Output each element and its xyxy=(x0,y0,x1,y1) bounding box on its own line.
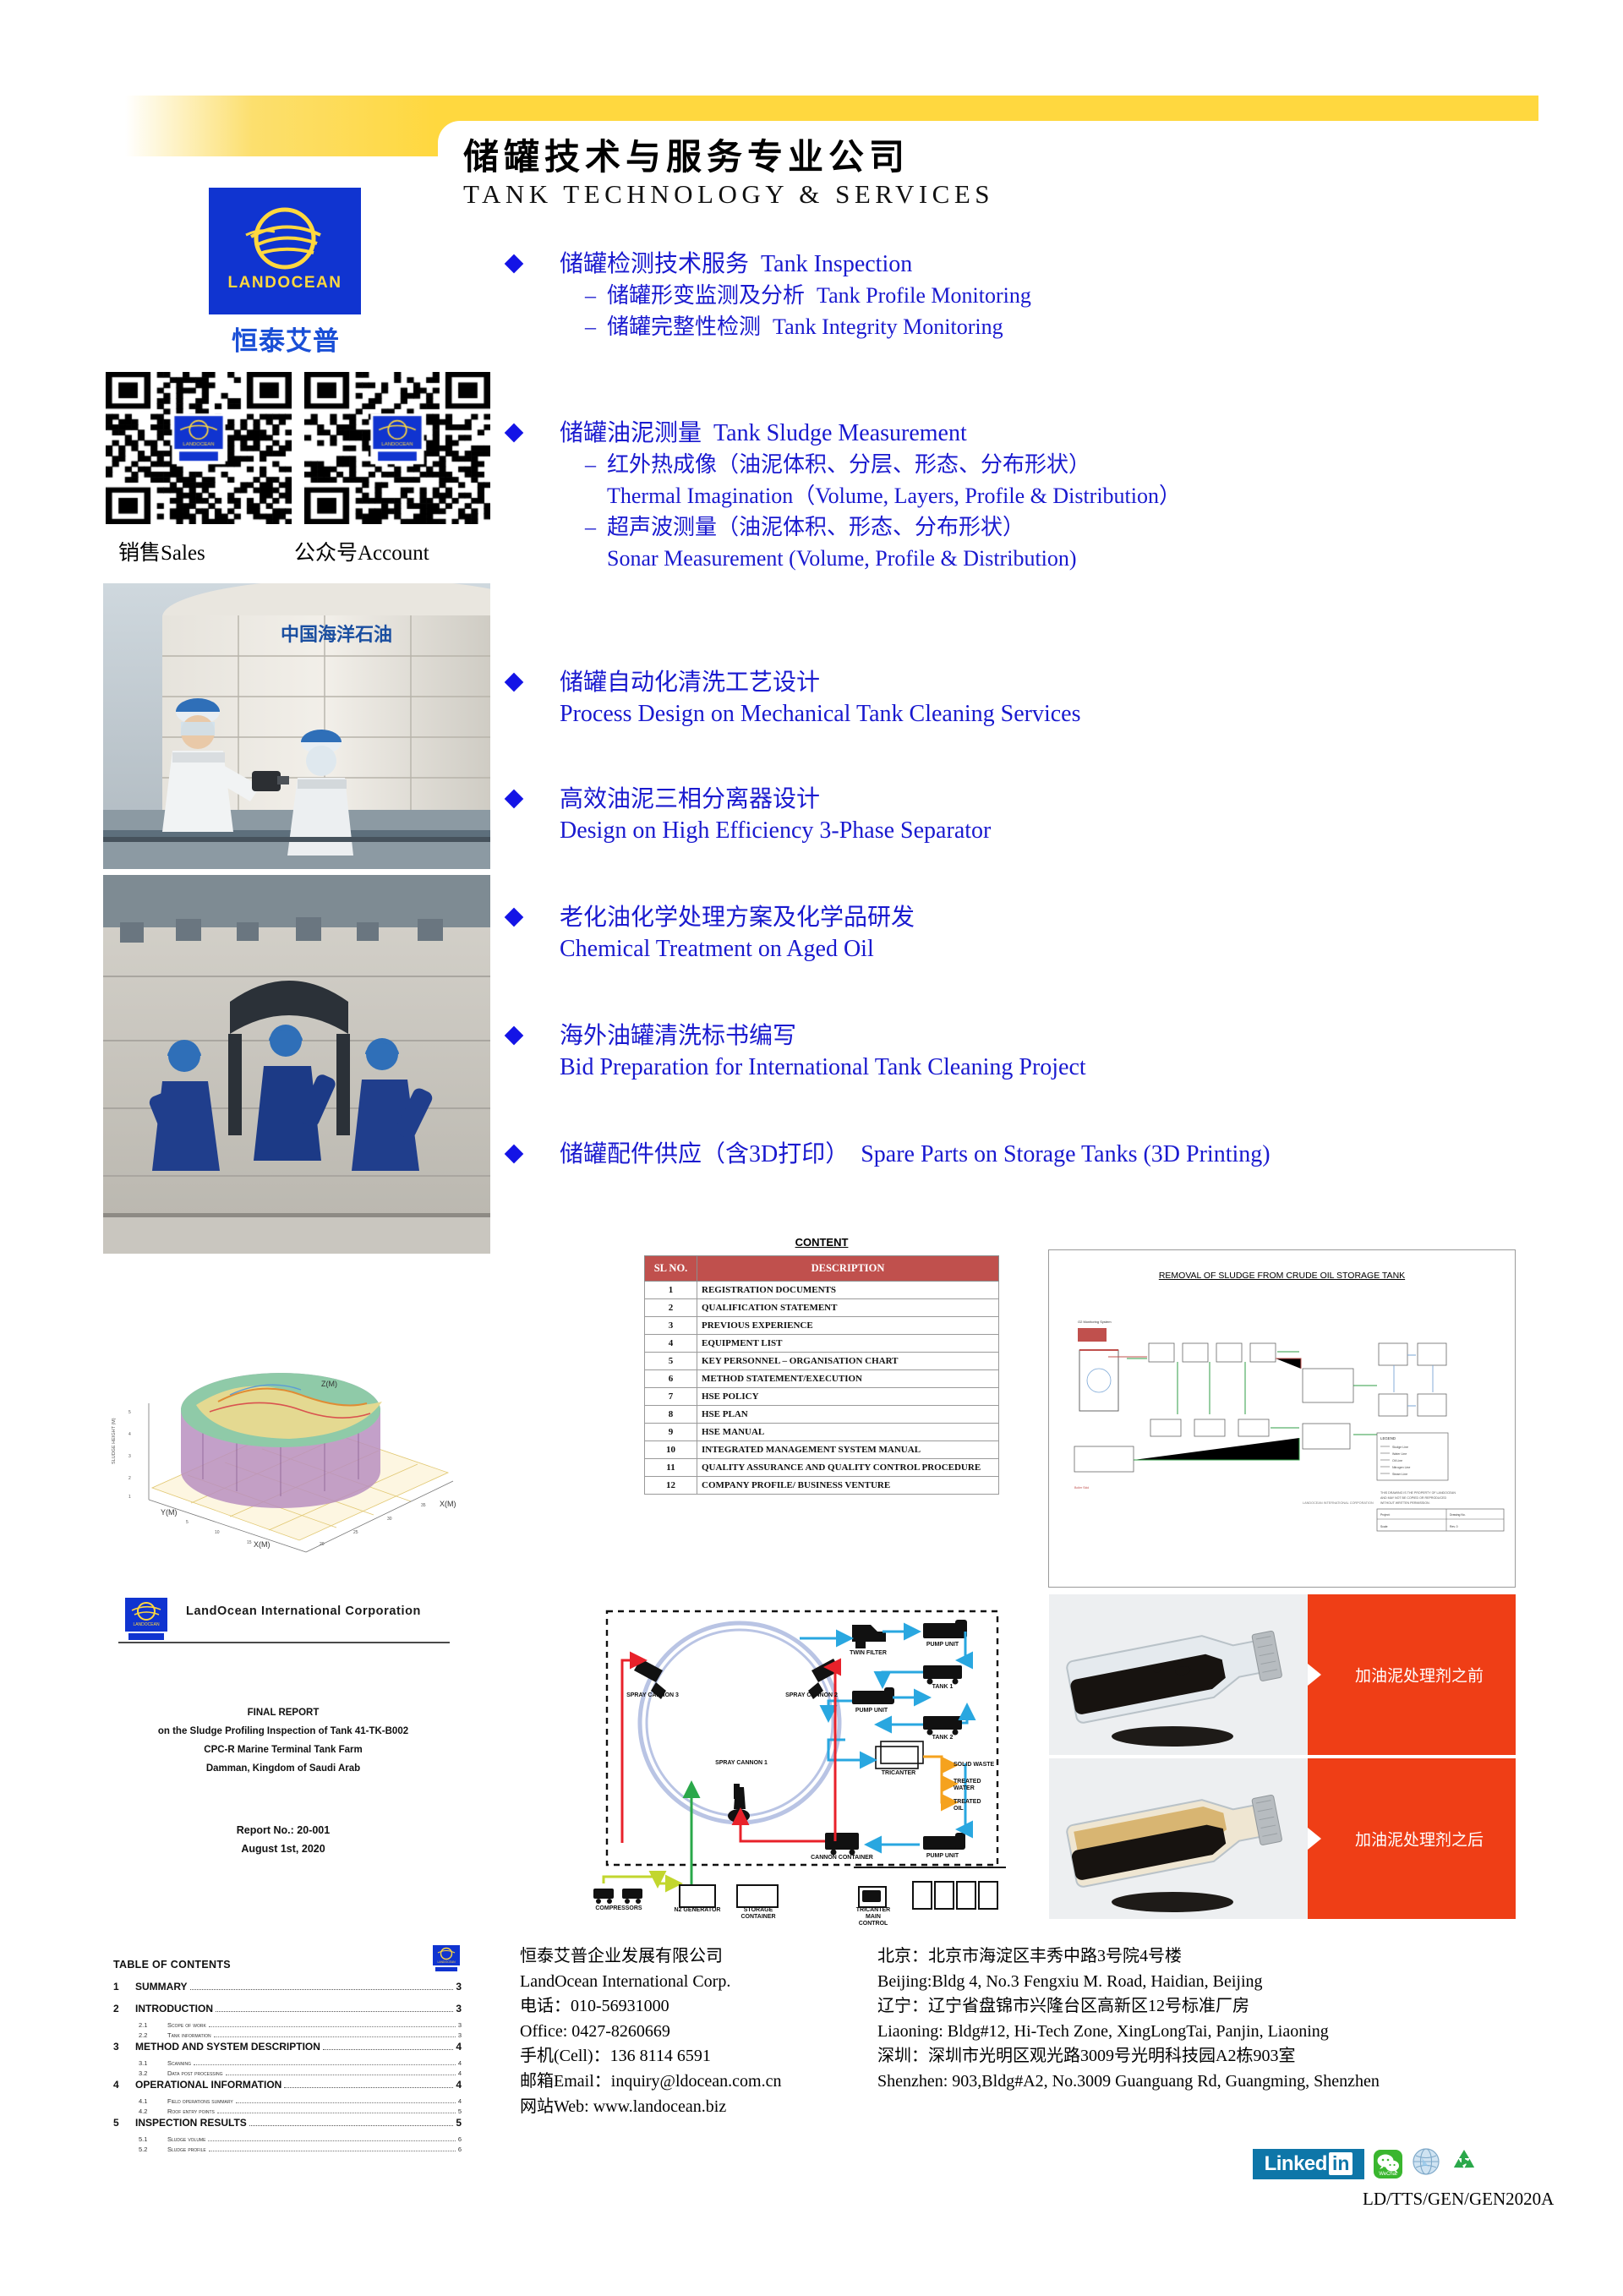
diamond-bullet-icon xyxy=(505,908,524,927)
flow-label-tank-1: TANK 1 xyxy=(923,1684,962,1691)
flow-label-treated-oil: TREATED OIL xyxy=(954,1799,994,1812)
row-description: HSE POLICY xyxy=(697,1388,999,1406)
row-description: REGISTRATION DOCUMENTS xyxy=(697,1282,999,1299)
svg-text:30: 30 xyxy=(387,1517,392,1522)
table-row: 8HSE PLAN xyxy=(645,1406,999,1424)
svg-text:Sludge Line: Sludge Line xyxy=(1392,1446,1408,1449)
service-title-en: Tank Sludge Measurement xyxy=(713,420,967,446)
toc-entry-5[interactable]: 5INSPECTION RESULTS5 xyxy=(113,2117,462,2129)
toc-entry-4[interactable]: 4OPERATIONAL INFORMATION4 xyxy=(113,2079,462,2091)
report-divider xyxy=(118,1642,450,1643)
landocean-logo: LANDOCEAN xyxy=(209,188,361,314)
svg-text:Project:: Project: xyxy=(1380,1513,1391,1517)
service-sub-en: Tank Profile Monitoring xyxy=(817,283,1031,308)
service-title-en: Spare Parts on Storage Tanks (3D Printin… xyxy=(861,1141,1270,1167)
toc-leader-dots xyxy=(194,2064,456,2065)
qr-sales-label: 销售Sales xyxy=(118,536,205,566)
dash-bullet-icon: – xyxy=(585,450,607,481)
report-company-name: LandOcean International Corporation xyxy=(186,1604,421,1618)
toc-entry-4-2[interactable]: 4.2Roof entry points5 xyxy=(139,2107,462,2115)
flow-label-n2-generator: N2 GENERATOR xyxy=(669,1907,725,1914)
oil-panel-after: 加油泥处理剂之后 xyxy=(1049,1758,1516,1919)
service-title-cn: 储罐检测技术服务 xyxy=(560,251,749,277)
table-row: 2QUALIFICATION STATEMENT xyxy=(645,1299,999,1317)
svg-text:5: 5 xyxy=(128,1410,131,1415)
report-date: August 1st, 2020 xyxy=(101,1843,465,1855)
toc-leader-dots xyxy=(214,2036,456,2037)
wechat-label: WeChat xyxy=(1374,2172,1402,2177)
toc-entry-title: METHOD AND SYSTEM DESCRIPTION xyxy=(135,2041,320,2053)
qr-canvas xyxy=(304,372,490,524)
content-table-header-row: SL NO. DESCRIPTION xyxy=(645,1256,999,1282)
svg-text:Steam Line: Steam Line xyxy=(1392,1473,1407,1476)
toc-entry-page: 3 xyxy=(456,1981,462,1993)
recycle-icon xyxy=(1450,2147,1478,2180)
toc-leader-dots xyxy=(284,2087,453,2088)
toc-entry-page: 3 xyxy=(458,2021,462,2029)
service-item-7[interactable]: 储罐配件供应（含3D打印）Spare Parts on Storage Tank… xyxy=(507,1140,1271,1171)
diamond-bullet-icon xyxy=(505,1145,524,1164)
flow-label-tricanter: TRICANTER xyxy=(872,1770,925,1777)
svg-text:3: 3 xyxy=(128,1454,131,1459)
diamond-bullet-icon xyxy=(505,254,524,274)
row-number: 10 xyxy=(645,1441,697,1459)
service-bullet-row: 海外油罐清洗标书编写Bid Preparation for Internatio… xyxy=(507,1021,1086,1084)
wechat-icon[interactable]: WeChat xyxy=(1374,2150,1402,2178)
flow-label-solid-waste: SOLID WASTE xyxy=(954,1762,1006,1768)
linkedin-label-1: Linked xyxy=(1265,2152,1327,2176)
svg-text:O2 Monitoring System: O2 Monitoring System xyxy=(1078,1320,1112,1324)
toc-entry-title: SUMMARY xyxy=(135,1981,188,1993)
footer-social-badges: Linked in WeChat xyxy=(1253,2147,1478,2180)
qr-code-sales xyxy=(106,372,292,524)
toc-entry-2-1[interactable]: 2.1Scope of work3 xyxy=(139,2021,462,2029)
row-number: 6 xyxy=(645,1370,697,1388)
toc-logo-icon: LANDOCEAN xyxy=(431,1945,462,1974)
service-title-en: Tank Inspection xyxy=(761,251,912,277)
svg-text:Rev. 0: Rev. 0 xyxy=(1450,1525,1458,1528)
table-row: 1REGISTRATION DOCUMENTS xyxy=(645,1282,999,1299)
toc-entry-title: Sludge volume xyxy=(167,2135,205,2143)
toc-leader-dots xyxy=(208,2140,455,2141)
toc-entry-3-2[interactable]: 3.2Data post processing4 xyxy=(139,2069,462,2077)
content-table: SL NO. DESCRIPTION 1REGISTRATION DOCUMEN… xyxy=(644,1255,999,1495)
address-beijing-en: Beijing:Bldg 4, No.3 Fengxiu M. Road, Ha… xyxy=(877,1970,1380,1995)
diamond-bullet-icon xyxy=(505,1026,524,1046)
service-bullet-row: 储罐检测技术服务Tank Inspection xyxy=(507,249,1031,281)
svg-text:中国海洋石油: 中国海洋石油 xyxy=(281,624,392,645)
table-row: 4EQUIPMENT LIST xyxy=(645,1335,999,1353)
flow-label-cannon-container: CANNON CONTAINER xyxy=(803,1855,881,1861)
svg-text:SLUDGE HEIGHT (M): SLUDGE HEIGHT (M) xyxy=(112,1418,117,1464)
table-row: 5KEY PERSONNEL – ORGANISATION CHART xyxy=(645,1353,999,1370)
toc-entry-number: 1 xyxy=(113,1981,135,1993)
toc-entry-page: 4 xyxy=(458,2097,462,2105)
contact-web[interactable]: 网站Web: www.landocean.biz xyxy=(520,2095,781,2120)
toc-entry-number: 5.2 xyxy=(139,2146,167,2153)
toc-leader-dots xyxy=(226,2075,456,2075)
toc-entry-page: 5 xyxy=(456,2117,462,2129)
svg-text:LANDOCEAN INTERNATIONAL CORPOR: LANDOCEAN INTERNATIONAL CORPORATION xyxy=(1303,1501,1374,1505)
toc-entry-number: 4.2 xyxy=(139,2107,167,2115)
content-table-title: CONTENT xyxy=(644,1236,999,1249)
report-number: Report No.: 20-001 xyxy=(101,1824,465,1836)
toc-entry-3[interactable]: 3METHOD AND SYSTEM DESCRIPTION4 xyxy=(113,2041,462,2053)
svg-text:Boiler Skid: Boiler Skid xyxy=(1074,1486,1089,1490)
row-description: EQUIPMENT LIST xyxy=(697,1335,999,1353)
service-title-cn: 储罐油泥测量 xyxy=(560,420,702,446)
contact-email[interactable]: 邮箱Email：inquiry@ldocean.com.cn xyxy=(520,2069,781,2095)
toc-entry-page: 3 xyxy=(456,2003,462,2014)
service-title-en: Process Design on Mechanical Tank Cleani… xyxy=(560,699,1080,730)
toc-leader-dots xyxy=(236,2102,456,2103)
toc-leader-dots xyxy=(209,2151,456,2151)
flow-label-spray-cannon-2: SPRAY CANNON 2 xyxy=(784,1692,839,1699)
toc-entry-2-2[interactable]: 2.2Tank information3 xyxy=(139,2031,462,2039)
col-description: DESCRIPTION xyxy=(697,1256,999,1282)
svg-text:15: 15 xyxy=(247,1540,252,1545)
toc-leader-dots xyxy=(216,2011,453,2012)
svg-text:LANDOCEAN: LANDOCEAN xyxy=(133,1622,160,1627)
svg-text:Scale: Scale xyxy=(1380,1525,1388,1528)
toc-document: LANDOCEAN TABLE OF CONTENTS 1SUMMARY32IN… xyxy=(101,1940,473,2122)
flow-label-tank-2: TANK 2 xyxy=(923,1735,962,1741)
row-number: 3 xyxy=(645,1317,697,1335)
toc-entry-number: 5 xyxy=(113,2117,135,2129)
toc-entry-number: 3.1 xyxy=(139,2059,167,2067)
service-bullet-row: 储罐自动化清洗工艺设计Process Design on Mechanical … xyxy=(507,668,1080,730)
contact-line-1: LandOcean International Corp. xyxy=(520,1970,781,1995)
svg-text:Y(M): Y(M) xyxy=(161,1508,178,1517)
flow-label-spray-cannon-3: SPRAY CANNON 3 xyxy=(626,1692,680,1699)
addresses-block: 北京：北京市海淀区丰秀中路3号院4号楼 Beijing:Bldg 4, No.3… xyxy=(877,1944,1380,2095)
photo-tank-inspection: 中国海洋石油 xyxy=(103,583,490,869)
service-title-en: Bid Preparation for International Tank C… xyxy=(560,1052,1086,1084)
row-number: 7 xyxy=(645,1388,697,1406)
row-description: HSE MANUAL xyxy=(697,1424,999,1441)
svg-text:Drawing No.: Drawing No. xyxy=(1450,1513,1466,1517)
toc-leader-dots xyxy=(217,2113,456,2113)
table-row: 11QUALITY ASSURANCE AND QUALITY CONTROL … xyxy=(645,1459,999,1477)
flow-label-pump-unit-1: PUMP UNIT xyxy=(918,1642,967,1648)
row-description: QUALITY ASSURANCE AND QUALITY CONTROL PR… xyxy=(697,1459,999,1477)
service-title-en: Chemical Treatment on Aged Oil xyxy=(560,934,915,965)
toc-entry-title: OPERATIONAL INFORMATION xyxy=(135,2079,281,2091)
tank-cleaning-flow-diagram: SPRAY CANNON 3 SPRAY CANNON 2 SPRAY CANN… xyxy=(592,1598,1014,1911)
oil-before-label: 加油泥处理剂之前 xyxy=(1355,1664,1484,1686)
toc-entry-number: 4.1 xyxy=(139,2097,167,2105)
contact-phone: 电话：010-56931000 xyxy=(520,1994,781,2020)
svg-text:10: 10 xyxy=(215,1530,220,1535)
service-sub-1: –储罐形变监测及分析Tank Profile Monitoring xyxy=(585,281,1031,312)
col-sl-no: SL NO. xyxy=(645,1256,697,1282)
toc-entry-3-1[interactable]: 3.1Scanning4 xyxy=(139,2059,462,2067)
svg-text:Water Line: Water Line xyxy=(1392,1452,1407,1456)
toc-entry-title: INTRODUCTION xyxy=(135,2003,213,2014)
row-number: 2 xyxy=(645,1299,697,1317)
toc-leader-dots xyxy=(190,1989,454,1990)
diamond-bullet-icon xyxy=(505,424,524,443)
svg-text:Nitrogen Line: Nitrogen Line xyxy=(1392,1466,1410,1469)
pid-diagram-panel: REMOVAL OF SLUDGE FROM CRUDE OIL STORAGE… xyxy=(1048,1249,1516,1588)
svg-text:35: 35 xyxy=(421,1503,426,1508)
toc-entry-2[interactable]: 2INTRODUCTION3 xyxy=(113,2003,462,2014)
service-bullet-row: 储罐油泥测量Tank Sludge Measurement xyxy=(507,418,1181,450)
toc-entry-page: 4 xyxy=(456,2041,462,2053)
row-number: 1 xyxy=(645,1282,697,1299)
row-description: INTEGRATED MANAGEMENT SYSTEM MANUAL xyxy=(697,1441,999,1459)
report-logo-icon: LANDOCEAN xyxy=(120,1598,172,1642)
toc-entry-title: Scope of work xyxy=(167,2021,206,2029)
service-title-en: Design on High Efficiency 3-Phase Separa… xyxy=(560,816,991,847)
chart-3d-sludge-profile: Z(M) Y(M) X(M) X(M) 54 321 51015 202530 … xyxy=(103,1261,492,1555)
toc-entry-5-1[interactable]: 5.1Sludge volume6 xyxy=(139,2135,462,2143)
row-number: 9 xyxy=(645,1424,697,1441)
service-item-5[interactable]: 老化油化学处理方案及化学品研发Chemical Treatment on Age… xyxy=(507,903,915,965)
diamond-bullet-icon xyxy=(505,673,524,692)
toc-entry-title: Roof entry points xyxy=(167,2107,215,2115)
toc-entry-4-1[interactable]: 4.1Field operations summary4 xyxy=(139,2097,462,2105)
service-sub-2-en: Sonar Measurement (Volume, Profile & Dis… xyxy=(607,544,1181,575)
flow-label-spray-cannon-1: SPRAY CANNON 1 xyxy=(715,1760,768,1767)
toc-entry-number: 3 xyxy=(113,2041,135,2053)
service-sub-en: Sonar Measurement (Volume, Profile & Dis… xyxy=(607,546,1077,571)
toc-entry-5-2[interactable]: 5.2Sludge profile6 xyxy=(139,2146,462,2153)
toc-entry-page: 6 xyxy=(458,2135,462,2143)
service-title-cn: 储罐自动化清洗工艺设计 xyxy=(560,670,820,696)
svg-text:THIS DRAWING IS THE PROPERTY O: THIS DRAWING IS THE PROPERTY OF LANDOCEA… xyxy=(1380,1491,1456,1495)
flow-label-treated-water: TREATED WATER xyxy=(954,1779,994,1792)
table-row: 12COMPANY PROFILE/ BUSINESS VENTURE xyxy=(645,1477,999,1495)
service-title-cn: 老化油化学处理方案及化学品研发 xyxy=(560,905,915,931)
service-sub-cn: 储罐完整性检测 xyxy=(607,314,761,339)
service-item-3[interactable]: 储罐自动化清洗工艺设计Process Design on Mechanical … xyxy=(507,668,1080,730)
toc-entry-number: 2 xyxy=(113,2003,135,2014)
toc-heading: TABLE OF CONTENTS xyxy=(113,1959,231,1971)
flow-label-pump-unit-3: PUMP UNIT xyxy=(918,1853,967,1860)
flow-label-twin-filter: TWIN FILTER xyxy=(842,1650,894,1657)
dash-bullet-icon: – xyxy=(585,281,607,312)
flow-label-pump-unit-2: PUMP UNIT xyxy=(847,1708,896,1714)
toc-entry-title: Data post processing xyxy=(167,2069,223,2077)
row-description: METHOD STATEMENT/EXECUTION xyxy=(697,1370,999,1388)
service-sub-2: –储罐完整性检测Tank Integrity Monitoring xyxy=(585,312,1031,343)
row-number: 12 xyxy=(645,1477,697,1495)
toc-entry-1[interactable]: 1SUMMARY3 xyxy=(113,1981,462,1993)
service-item-1[interactable]: 储罐检测技术服务Tank Inspection–储罐形变监测及分析Tank Pr… xyxy=(507,249,1031,343)
toc-leader-dots xyxy=(323,2049,453,2050)
toc-entry-page: 5 xyxy=(458,2107,462,2115)
table-row: 9HSE MANUAL xyxy=(645,1424,999,1441)
toc-entry-page: 6 xyxy=(458,2146,462,2153)
svg-text:Z(M): Z(M) xyxy=(321,1380,337,1388)
toc-entry-title: Scanning xyxy=(167,2059,191,2067)
dash-bullet-icon: – xyxy=(585,312,607,343)
toc-entry-page: 4 xyxy=(456,2079,462,2091)
service-item-4[interactable]: 高效油泥三相分离器设计Design on High Efficiency 3-P… xyxy=(507,784,991,847)
toc-entry-number: 2.2 xyxy=(139,2031,167,2039)
toc-entry-title: Sludge profile xyxy=(167,2146,206,2153)
service-title-cn: 海外油罐清洗标书编写 xyxy=(560,1023,796,1049)
toc-entry-page: 4 xyxy=(458,2069,462,2077)
row-description: KEY PERSONNEL – ORGANISATION CHART xyxy=(697,1353,999,1370)
oil-panel-before: 加油泥处理剂之前 xyxy=(1049,1594,1516,1755)
svg-text:4: 4 xyxy=(128,1432,131,1437)
toc-entry-number: 2.1 xyxy=(139,2021,167,2029)
contact-block: 恒泰艾普企业发展有限公司 LandOcean International Cor… xyxy=(520,1944,781,2119)
row-number: 5 xyxy=(645,1353,697,1370)
report-line-1: on the Sludge Profiling Inspection of Ta… xyxy=(101,1726,465,1736)
service-bullet-row: 老化油化学处理方案及化学品研发Chemical Treatment on Age… xyxy=(507,903,915,965)
svg-text:X(M): X(M) xyxy=(440,1500,456,1508)
svg-text:25: 25 xyxy=(353,1530,358,1535)
toc-entry-page: 4 xyxy=(458,2059,462,2067)
toc-entry-title: Field operations summary xyxy=(167,2097,233,2105)
row-description: COMPANY PROFILE/ BUSINESS VENTURE xyxy=(697,1477,999,1495)
service-sub-cn: 储罐形变监测及分析 xyxy=(607,283,805,308)
toc-entry-number: 3.2 xyxy=(139,2069,167,2077)
row-description: PREVIOUS EXPERIENCE xyxy=(697,1317,999,1335)
service-sub-en: Tank Integrity Monitoring xyxy=(773,314,1003,339)
poster-page: 储罐技术与服务专业公司 TANK TECHNOLOGY & SERVICES L… xyxy=(0,0,1623,2296)
contact-office: Office: 0427-8260669 xyxy=(520,2020,781,2045)
svg-text:AND MAY NOT BE COPIED OR REPRO: AND MAY NOT BE COPIED OR REPRODUCED xyxy=(1380,1496,1446,1500)
toc-entry-title: INSPECTION RESULTS xyxy=(135,2117,247,2129)
globe-icon[interactable] xyxy=(1412,2147,1440,2180)
toc-entry-page: 3 xyxy=(458,2031,462,2039)
address-shenzhen-cn: 深圳：深圳市光明区观光路3009号光明科技园A2栋903室 xyxy=(877,2044,1380,2069)
row-number: 8 xyxy=(645,1406,697,1424)
service-sub-cn: 超声波测量（油泥体积、形态、分布形状） xyxy=(607,515,1025,539)
service-title-cn: 储罐配件供应（含3D打印） xyxy=(560,1141,849,1167)
address-liaoning-en: Liaoning: Bldg#12, Hi-Tech Zone, XingLon… xyxy=(877,2020,1380,2045)
report-line-2: CPC-R Marine Terminal Tank Farm xyxy=(101,1745,465,1755)
service-item-6[interactable]: 海外油罐清洗标书编写Bid Preparation for Internatio… xyxy=(507,1021,1086,1084)
toc-leader-dots xyxy=(209,2026,456,2027)
toc-entry-number: 4 xyxy=(113,2079,135,2091)
qr-account-label: 公众号Account xyxy=(294,536,429,566)
table-row: 7HSE POLICY xyxy=(645,1388,999,1406)
service-sub-1-en: Thermal Imagination（Volume, Layers, Prof… xyxy=(607,481,1181,512)
flow-label-storage-container: STORAGE CONTAINER xyxy=(734,1907,783,1921)
svg-text:X(M): X(M) xyxy=(254,1540,270,1549)
document-code: LD/TTS/GEN/GEN2020A xyxy=(1363,2189,1554,2210)
table-row: 10INTEGRATED MANAGEMENT SYSTEM MANUAL xyxy=(645,1441,999,1459)
service-sub-cn: 红外热成像（油泥体积、分层、形态、分布形状） xyxy=(607,452,1090,477)
page-title-en: TANK TECHNOLOGY & SERVICES xyxy=(463,179,994,210)
content-table-block: CONTENT SL NO. DESCRIPTION 1REGISTRATION… xyxy=(644,1236,999,1495)
toc-leader-dots xyxy=(249,2125,454,2126)
service-bullet-row: 储罐配件供应（含3D打印）Spare Parts on Storage Tank… xyxy=(507,1140,1271,1171)
row-description: QUALIFICATION STATEMENT xyxy=(697,1299,999,1317)
svg-text:LANDOCEAN: LANDOCEAN xyxy=(228,274,342,292)
linkedin-icon[interactable]: Linked in xyxy=(1253,2149,1364,2179)
row-number: 11 xyxy=(645,1459,697,1477)
row-description: HSE PLAN xyxy=(697,1406,999,1424)
dash-bullet-icon: – xyxy=(585,512,607,544)
address-beijing-cn: 北京：北京市海淀区丰秀中路3号院4号楼 xyxy=(877,1944,1380,1970)
svg-text:WITHOUT WRITTEN PERMISSION.: WITHOUT WRITTEN PERMISSION. xyxy=(1380,1501,1430,1505)
service-item-2[interactable]: 储罐油泥测量Tank Sludge Measurement–红外热成像（油泥体积… xyxy=(507,418,1181,575)
page-title-cn: 储罐技术与服务专业公司 xyxy=(463,128,910,180)
landocean-globe-icon: LANDOCEAN xyxy=(209,188,361,314)
oil-after-label: 加油泥处理剂之后 xyxy=(1355,1828,1484,1850)
report-line-3: Damman, Kingdom of Saudi Arab xyxy=(101,1763,465,1774)
logo-company-cn: 恒泰艾普 xyxy=(203,320,369,358)
table-row: 6METHOD STATEMENT/EXECUTION xyxy=(645,1370,999,1388)
svg-text:LEGEND: LEGEND xyxy=(1380,1436,1396,1440)
svg-text:5: 5 xyxy=(186,1520,189,1525)
service-sub-2: –超声波测量（油泥体积、形态、分布形状） xyxy=(585,512,1181,544)
svg-text:2: 2 xyxy=(128,1476,131,1481)
qr-code-account xyxy=(304,372,490,524)
flow-label-compressors: COMPRESSORS xyxy=(592,1905,646,1912)
service-bullet-row: 高效油泥三相分离器设计Design on High Efficiency 3-P… xyxy=(507,784,991,847)
diamond-bullet-icon xyxy=(505,790,524,809)
service-sub-1: –红外热成像（油泥体积、分层、形态、分布形状） xyxy=(585,450,1181,481)
contact-line-0: 恒泰艾普企业发展有限公司 xyxy=(520,1944,781,1970)
row-number: 4 xyxy=(645,1335,697,1353)
flow-label-tricanter-main-control: TRICANTER MAIN CONTROL xyxy=(849,1907,898,1927)
photo-roof-crew xyxy=(103,875,490,1254)
service-title-cn: 高效油泥三相分离器设计 xyxy=(560,786,820,812)
svg-text:20: 20 xyxy=(320,1542,325,1547)
linkedin-label-2: in xyxy=(1329,2152,1352,2174)
address-shenzhen-en: Shenzhen: 903,Bldg#A2, No.3009 Guanguang… xyxy=(877,2069,1380,2095)
service-sub-en: Thermal Imagination（Volume, Layers, Prof… xyxy=(607,484,1181,508)
svg-text:Oil Line: Oil Line xyxy=(1392,1459,1402,1462)
address-liaoning-cn: 辽宁：辽宁省盘锦市兴隆台区高新区12号标准厂房 xyxy=(877,1994,1380,2020)
svg-text:LANDOCEAN: LANDOCEAN xyxy=(437,1960,456,1964)
qr-canvas xyxy=(106,372,292,524)
table-row: 3PREVIOUS EXPERIENCE xyxy=(645,1317,999,1335)
toc-entry-number: 5.1 xyxy=(139,2135,167,2143)
report-cover-document: LANDOCEAN LandOcean International Corpor… xyxy=(101,1589,465,1885)
toc-entry-title: Tank information xyxy=(167,2031,211,2039)
svg-text:1: 1 xyxy=(128,1495,131,1500)
report-line-0: FINAL REPORT xyxy=(101,1708,465,1718)
contact-cell: 手机(Cell)：136 8114 6591 xyxy=(520,2044,781,2069)
